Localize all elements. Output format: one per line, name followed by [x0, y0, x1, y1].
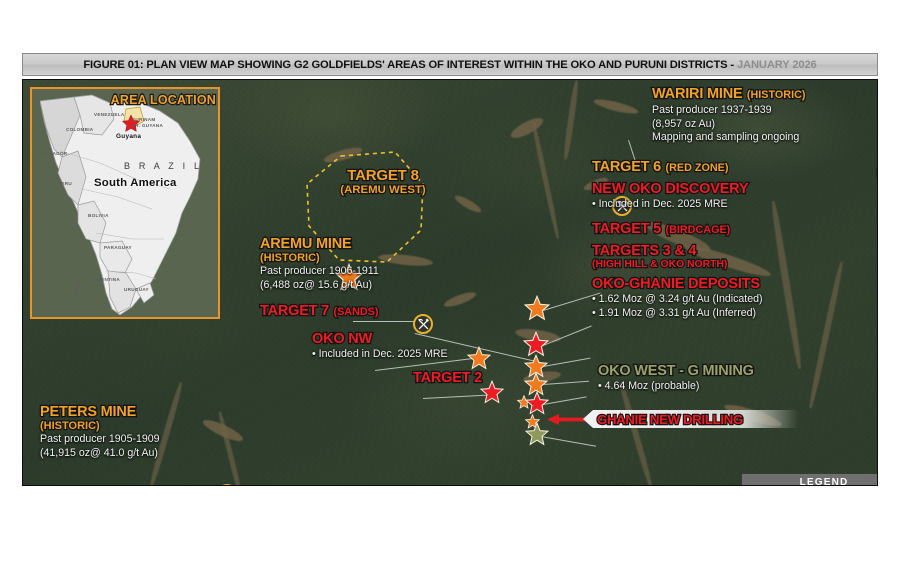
inset-country-fr-guyana: FR. GUYANA	[132, 123, 163, 128]
oko-west-title: OKO WEST - G MINING	[598, 363, 754, 380]
inset-brazil-label: B R A Z I L	[124, 161, 202, 171]
target8-qualifier: (AREMU WEST)	[323, 184, 443, 197]
peters-qualifier: (HISTORIC)	[40, 420, 160, 433]
new-oko-discovery-annotation: NEW OKO DISCOVERY • Included in Dec. 202…	[592, 181, 748, 212]
aremu-line-2: (6,488 oz@ 15.6 g/t Au)	[260, 279, 379, 293]
north-arrow: N	[868, 165, 878, 203]
oko-west-line-1: • 4.64 Moz (probable)	[598, 380, 754, 394]
target6-star[interactable]	[524, 295, 550, 321]
target7-title: TARGET 7	[260, 303, 329, 319]
satellite-map[interactable]: B R A Z I L South America Guyana VENEZUE…	[22, 79, 878, 486]
target6-annotation: TARGET 6 (RED ZONE)	[592, 158, 728, 176]
ghanie-drilling-banner: GHANIE NEW DRILLING	[583, 410, 798, 428]
page-title: FIGURE 01: PLAN VIEW MAP SHOWING G2 GOLD…	[83, 59, 816, 71]
inset-continent-label: South America	[94, 177, 177, 189]
peters-line-2: (41,915 oz@ 41.0 g/t Au)	[40, 447, 160, 461]
legend-header: LEGEND	[742, 474, 878, 486]
aremu-title: AREMU MINE	[260, 236, 379, 252]
wariri-line-2: (8,957 oz Au)	[652, 118, 805, 132]
target5-annotation: TARGET 5 (BIRDCAGE)	[592, 220, 730, 238]
north-arrow-icon	[875, 179, 879, 203]
wariri-line-1: Past producer 1937-1939	[652, 104, 805, 118]
target2-annotation: TARGET 2	[413, 369, 482, 387]
target8-annotation: TARGET 8 (AREMU WEST)	[323, 167, 443, 197]
figure-title-bar: FIGURE 01: PLAN VIEW MAP SHOWING G2 GOLD…	[22, 53, 878, 76]
inset-guyana-label: Guyana	[116, 133, 141, 140]
target7-qualifier: (SANDS)	[333, 306, 378, 318]
oko-ghanie-annotation: OKO-GHANIE DEPOSITS • 1.62 Moz @ 3.24 g/…	[592, 276, 763, 320]
ghanie-drilling-title: GHANIE NEW DRILLING	[597, 412, 743, 427]
peters-title: PETERS MINE	[40, 404, 160, 420]
oko-nw-annotation: OKO NW • Included in Dec. 2025 MRE	[312, 331, 448, 362]
targets-3-4-annotation: TARGETS 3 & 4 (HIGH HILL & OKO NORTH)	[592, 243, 727, 271]
target5-title: TARGET 5	[592, 221, 661, 237]
oko-west-annotation: OKO WEST - G MINING • 4.64 Moz (probable…	[598, 363, 754, 394]
wariri-title: WARIRI MINE	[652, 86, 742, 102]
north-label: N	[868, 165, 878, 178]
inset-country-peru: PERU	[58, 181, 72, 186]
target7-annotation: TARGET 7 (SANDS)	[260, 302, 378, 320]
aremu-star[interactable]	[467, 346, 491, 370]
area-location-label: AREA LOCATION	[111, 93, 216, 107]
oko-west-star[interactable]	[525, 422, 549, 446]
inset-country-uruguay: URUGUAY	[124, 287, 149, 292]
inset-country-bolivia: BOLIVIA	[88, 213, 109, 218]
targets34-title: TARGETS 3 & 4	[592, 243, 727, 259]
area-location-inset: B R A Z I L South America Guyana VENEZUE…	[30, 87, 220, 319]
oko-ghanie-line-2: • 1.91 Moz @ 3.31 g/t Au (Inferred)	[592, 307, 763, 321]
inset-country-paraguay: PARAGUAY	[104, 245, 132, 250]
area-location-badge: AREA LOCATION	[111, 93, 216, 107]
figure-title-date: JANUARY 2026	[734, 59, 817, 71]
inset-country-ecuador: ECUADOR	[42, 151, 67, 156]
oko-ghanie-title: OKO-GHANIE DEPOSITS	[592, 276, 763, 293]
target8-title: TARGET 8	[323, 167, 443, 184]
inset-country-venezuela: VENEZUELA	[94, 112, 125, 117]
oko-nw-title: OKO NW	[312, 331, 448, 348]
target7-star[interactable]	[480, 380, 504, 404]
oko-ghanie-star[interactable]	[525, 391, 549, 415]
aremu-qualifier: (HISTORIC)	[260, 252, 379, 265]
figure-title-main: FIGURE 01: PLAN VIEW MAP SHOWING G2 GOLD…	[83, 59, 734, 71]
wariri-line-3: Mapping and sampling ongoing	[652, 131, 805, 145]
inset-country-surinam: SURINAM	[132, 117, 156, 122]
wariri-qualifier: (HISTORIC)	[747, 89, 806, 101]
inset-country-argentina: ARGENTINA	[90, 277, 120, 282]
peters-line-1: Past producer 1905-1909	[40, 433, 160, 447]
oko-nw-line-1: • Included in Dec. 2025 MRE	[312, 348, 448, 362]
new-oko-line-1: • Included in Dec. 2025 MRE	[592, 198, 748, 212]
targets34-qualifier: (HIGH HILL & OKO NORTH)	[592, 259, 727, 271]
oko-ghanie-line-1: • 1.62 Moz @ 3.24 g/t Au (Indicated)	[592, 293, 763, 307]
wariri-annotation: WARIRI MINE (HISTORIC) Past producer 193…	[652, 85, 805, 145]
inset-country-colombia: COLOMBIA	[66, 127, 93, 132]
target5-qualifier: (BIRDCAGE)	[665, 224, 730, 236]
target2-title: TARGET 2	[413, 370, 482, 386]
legend: LEGEND G2 Assets G3 Assets G2 Mineral Re…	[741, 473, 878, 486]
target6-title: TARGET 6	[592, 159, 661, 175]
new-oko-title: NEW OKO DISCOVERY	[592, 181, 748, 198]
aremu-line-1: Past producer 1906-1911	[260, 265, 379, 279]
target6-qualifier: (RED ZONE)	[665, 162, 728, 174]
aremu-annotation: AREMU MINE (HISTORIC) Past producer 1906…	[260, 236, 379, 292]
peters-annotation: PETERS MINE (HISTORIC) Past producer 190…	[40, 404, 160, 460]
figure-page: FIGURE 01: PLAN VIEW MAP SHOWING G2 GOLD…	[0, 0, 901, 568]
